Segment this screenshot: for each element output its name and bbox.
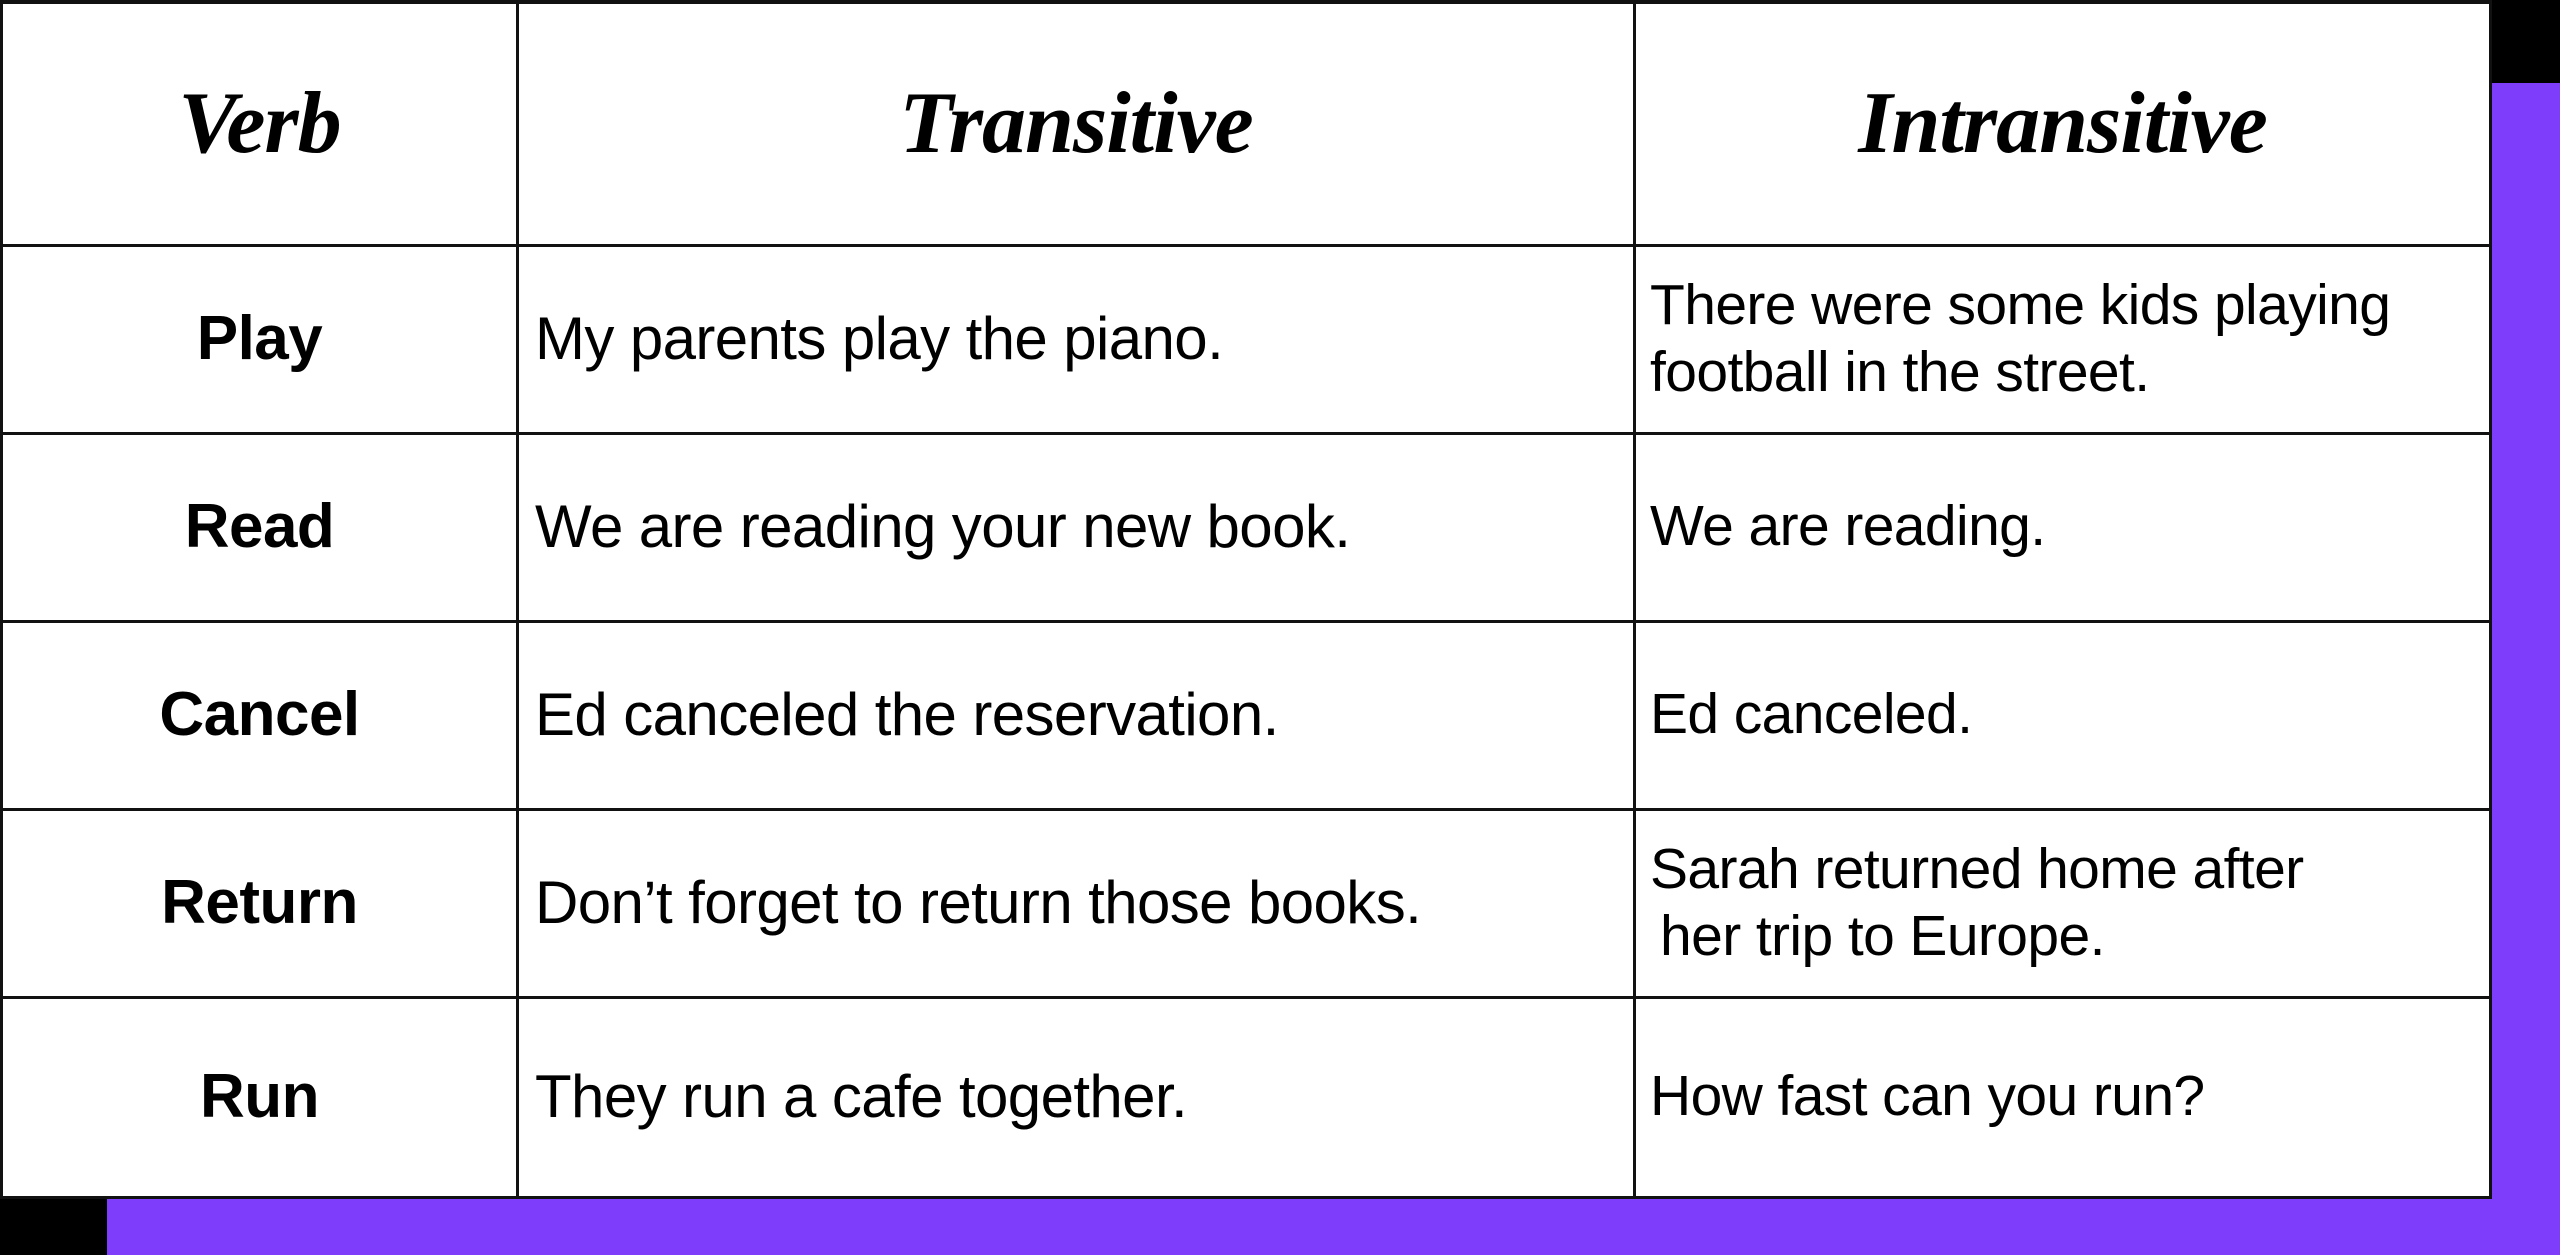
cell-intransitive-line-1: Sarah returned home after xyxy=(1650,836,2479,903)
table-header-row: Verb Transitive Intransitive xyxy=(2,2,2491,245)
cell-intransitive-example: How fast can you run? xyxy=(1635,997,2491,1197)
cell-intransitive-line-2: her trip to Europe. xyxy=(1650,903,2479,970)
decorative-purple-bar-bottom xyxy=(107,1194,2560,1255)
column-header-intransitive: Intransitive xyxy=(1635,2,2491,245)
cell-verb: Return xyxy=(2,809,518,997)
cell-intransitive-example: We are reading. xyxy=(1635,433,2491,621)
slide-canvas: Verb Transitive Intransitive Play My par… xyxy=(0,0,2560,1255)
table-row: Read We are reading your new book. We ar… xyxy=(2,433,2491,621)
cell-intransitive-example: Sarah returned home after her trip to Eu… xyxy=(1635,809,2491,997)
cell-intransitive-line-2: football in the street. xyxy=(1650,339,2479,406)
table-row: Play My parents play the piano. There we… xyxy=(2,245,2491,433)
cell-transitive-example: They run a cafe together. xyxy=(518,997,1635,1197)
cell-transitive-example: Don’t forget to return those books. xyxy=(518,809,1635,997)
decorative-black-block-bottom-left xyxy=(0,1194,107,1255)
table-row: Cancel Ed canceled the reservation. Ed c… xyxy=(2,621,2491,809)
cell-transitive-example: Ed canceled the reservation. xyxy=(518,621,1635,809)
table-body: Play My parents play the piano. There we… xyxy=(2,245,2491,1197)
column-header-verb: Verb xyxy=(2,2,518,245)
cell-intransitive-example: There were some kids playing football in… xyxy=(1635,245,2491,433)
cell-intransitive-line-1: How fast can you run? xyxy=(1650,1065,2479,1129)
cell-intransitive-line-1: Ed canceled. xyxy=(1650,683,2479,747)
cell-intransitive-line-1: There were some kids playing xyxy=(1650,272,2479,339)
cell-verb: Read xyxy=(2,433,518,621)
table-row: Return Don’t forget to return those book… xyxy=(2,809,2491,997)
cell-verb: Cancel xyxy=(2,621,518,809)
column-header-transitive: Transitive xyxy=(518,2,1635,245)
cell-transitive-example: We are reading your new book. xyxy=(518,433,1635,621)
transitive-intransitive-verb-table: Verb Transitive Intransitive Play My par… xyxy=(0,0,2492,1199)
cell-verb: Play xyxy=(2,245,518,433)
cell-intransitive-example: Ed canceled. xyxy=(1635,621,2491,809)
cell-transitive-example: My parents play the piano. xyxy=(518,245,1635,433)
cell-intransitive-line-1: We are reading. xyxy=(1650,495,2479,559)
decorative-purple-bar-right xyxy=(2487,83,2560,1195)
table-row: Run They run a cafe together. How fast c… xyxy=(2,997,2491,1197)
table-header: Verb Transitive Intransitive xyxy=(2,2,2491,245)
cell-verb: Run xyxy=(2,997,518,1197)
